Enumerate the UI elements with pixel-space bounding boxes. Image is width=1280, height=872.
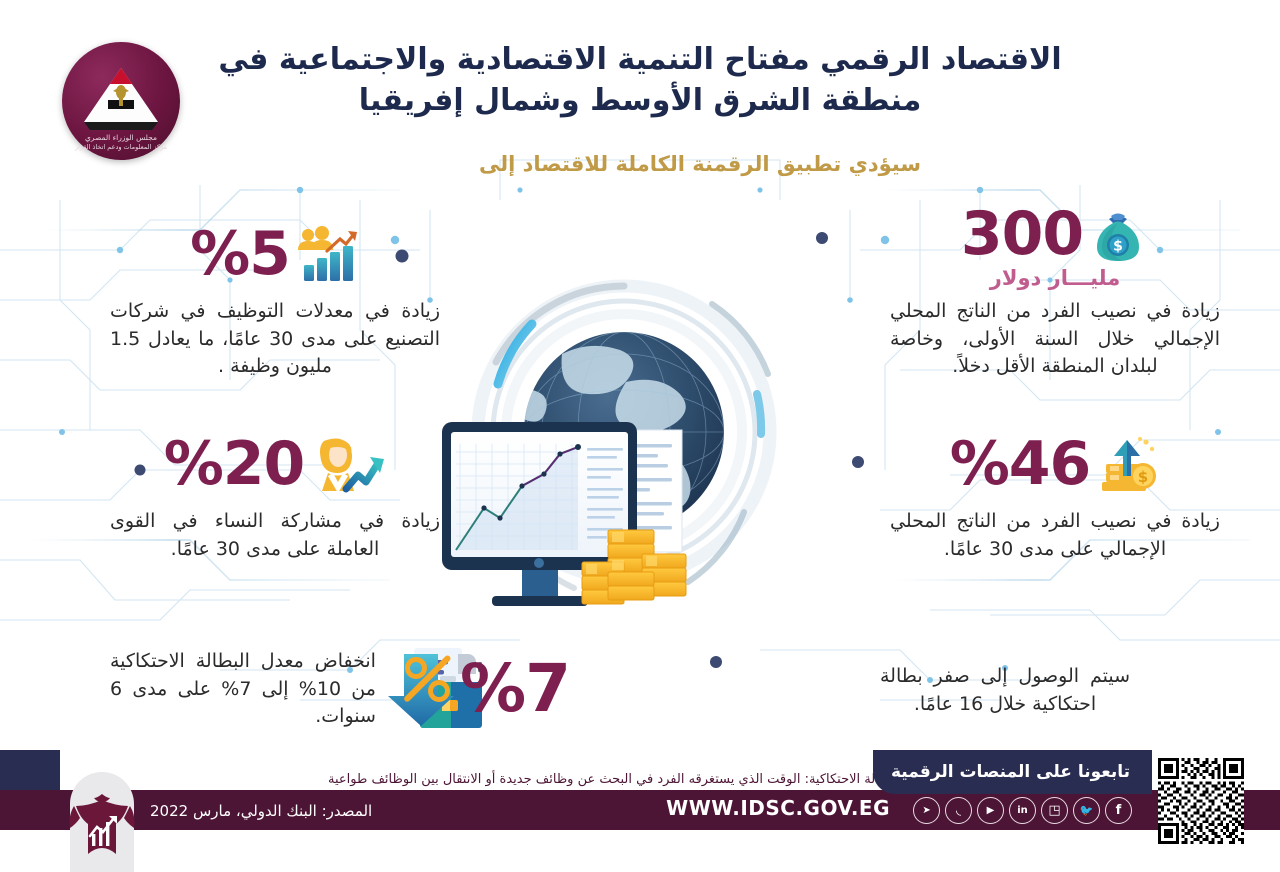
facebook-glyph: f <box>1116 803 1122 818</box>
stat-row: %7 انخفاض معدل البطالة الاحتكاكية من 10%… <box>110 648 570 731</box>
qr-code[interactable] <box>1158 758 1244 844</box>
idsc-logo[interactable]: مجلس الوزراء المصري مركز المعلومات ودعم … <box>62 42 180 160</box>
youtube-icon[interactable]: ▶ <box>977 797 1004 824</box>
source-label: المصدر: البنك الدولي، مارس 2022 <box>150 802 372 820</box>
employment-bar-chart-icon <box>294 225 360 283</box>
svg-text:$: $ <box>1138 468 1148 486</box>
stat-card-20-percent: %20 زيادة في مشاركة النساء في القوى العا… <box>110 428 440 563</box>
telegram-icon[interactable]: ➤ <box>913 797 940 824</box>
down-arrow-percent-icon <box>380 648 464 730</box>
woman-growth-arrow-icon <box>308 435 386 493</box>
svg-text:مجلس الوزراء المصري: مجلس الوزراء المصري <box>85 133 157 142</box>
header: الاقتصاد الرقمي مفتاح التنمية الاقتصادية… <box>0 34 1280 194</box>
facebook-icon[interactable]: f <box>1105 797 1132 824</box>
globe-monitor-coins-illustration <box>412 262 832 642</box>
money-bag-icon: $ <box>1087 203 1149 265</box>
coins-up-arrow-icon: $ <box>1094 436 1160 492</box>
stat-card-46-percent: $ %46 زيادة في نصيب الفرد من الناتج المح… <box>890 428 1220 563</box>
svg-text:$: $ <box>1113 239 1123 255</box>
stat-number-row: $ %46 <box>890 428 1220 500</box>
stat-number: %5 <box>190 224 290 284</box>
stat-description: زيادة في مشاركة النساء في القوى العاملة … <box>110 508 440 563</box>
stat-card-5-percent: %5 زيادة في معدلات التوظيف في شركات التص… <box>110 218 440 381</box>
follow-us-label: تابعونا على المنصات الرقمية <box>891 762 1130 782</box>
stat-description: انخفاض معدل البطالة الاحتكاكية من 10% إل… <box>110 648 376 731</box>
website-url[interactable]: WWW.IDSC.GOV.EG <box>666 796 890 820</box>
stat-number-row: %20 <box>110 428 440 500</box>
idsc-logo-graphic: مجلس الوزراء المصري مركز المعلومات ودعم … <box>62 42 180 160</box>
stat-unit-label: مليـــار دولار <box>890 266 1220 290</box>
stat-card-7-percent: %7 انخفاض معدل البطالة الاحتكاكية من 10%… <box>110 648 570 731</box>
telegram-glyph: ➤ <box>922 805 930 816</box>
soundcloud-icon[interactable]: ◟ <box>945 797 972 824</box>
stat-number: %7 <box>460 656 570 722</box>
stat-number: %20 <box>164 434 305 494</box>
stat-description: سيتم الوصول إلى صفر بطالة احتكاكية خلال … <box>880 663 1130 718</box>
svg-text:مركز المعلومات ودعم اتخاذ القر: مركز المعلومات ودعم اتخاذ القرار <box>74 143 167 151</box>
stat-number: %46 <box>950 434 1091 494</box>
stat-card-300-billion: $ 300 مليـــار دولار زيادة في نصيب الفرد… <box>890 198 1220 381</box>
idsc-eagle-emblem <box>62 772 142 872</box>
instagram-icon[interactable]: ◳ <box>1041 797 1068 824</box>
twitter-glyph: 🐦 <box>1080 804 1094 817</box>
stat-card-zero-frictional-unemployment: سيتم الوصول إلى صفر بطالة احتكاكية خلال … <box>880 655 1130 718</box>
twitter-icon[interactable]: 🐦 <box>1073 797 1100 824</box>
stat-description: زيادة في نصيب الفرد من الناتج المحلي الإ… <box>890 508 1220 563</box>
follow-us-pill: تابعونا على المنصات الرقمية <box>873 750 1152 794</box>
soundcloud-glyph: ◟ <box>956 803 961 818</box>
page-title: الاقتصاد الرقمي مفتاح التنمية الاقتصادية… <box>200 40 1080 121</box>
stat-number: 300 <box>961 204 1083 264</box>
youtube-glyph: ▶ <box>987 805 995 816</box>
stat-number-row: %5 <box>110 218 440 290</box>
stat-number-row: $ 300 <box>890 198 1220 270</box>
linkedin-glyph: in <box>1017 805 1028 816</box>
social-links: f 🐦 ◳ in ▶ ◟ ➤ <box>913 797 1132 824</box>
stat-description: زيادة في معدلات التوظيف في شركات التصنيع… <box>110 298 440 381</box>
page-subtitle: سيؤدي تطبيق الرقمنة الكاملة للاقتصاد إلى <box>0 152 1280 176</box>
stat-description: زيادة في نصيب الفرد من الناتج المحلي الإ… <box>890 298 1220 381</box>
instagram-glyph: ◳ <box>1048 803 1060 818</box>
linkedin-icon[interactable]: in <box>1009 797 1036 824</box>
